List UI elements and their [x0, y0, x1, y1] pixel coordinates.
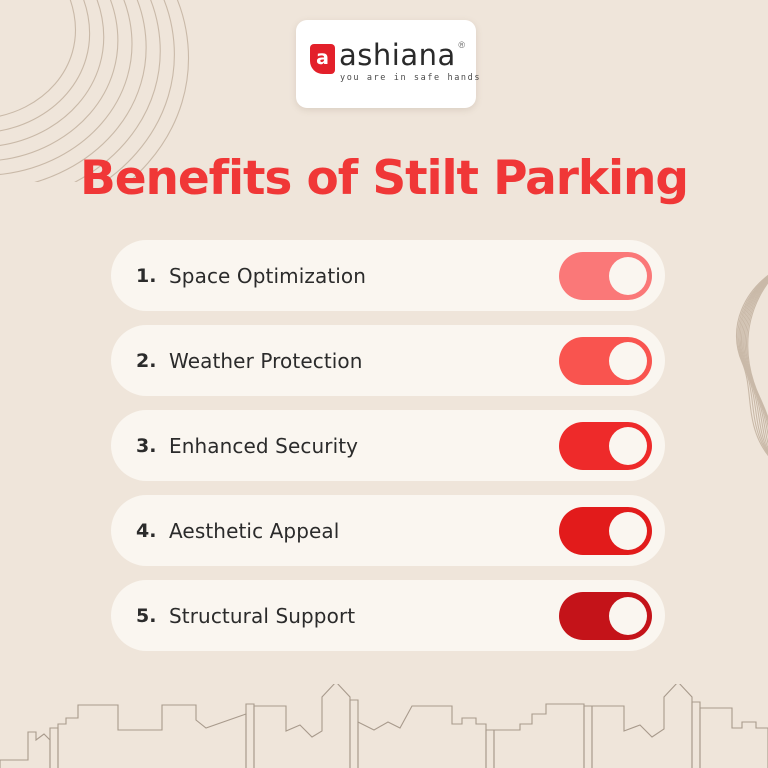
benefits-list: 1.Space Optimization2.Weather Protection… [111, 240, 665, 651]
benefit-row[interactable]: 5.Structural Support [111, 580, 665, 651]
benefit-number: 3. [136, 435, 169, 457]
benefit-toggle-switch[interactable] [559, 252, 652, 300]
benefit-number: 1. [136, 265, 169, 287]
logo-wordmark: ashiana [339, 40, 456, 72]
toggle-knob[interactable] [609, 512, 647, 550]
brand-logo: a ashiana ® you are in safe hands [310, 41, 462, 87]
toggle-knob[interactable] [609, 427, 647, 465]
benefit-toggle-switch[interactable] [559, 337, 652, 385]
benefit-label: Enhanced Security [169, 434, 358, 458]
logo-tagline: you are in safe hands [340, 73, 481, 83]
registered-trademark-icon: ® [458, 40, 465, 50]
benefit-label: Weather Protection [169, 349, 363, 373]
toggle-knob[interactable] [609, 342, 647, 380]
toggle-knob[interactable] [609, 597, 647, 635]
benefit-toggle-switch[interactable] [559, 422, 652, 470]
benefit-row[interactable]: 4.Aesthetic Appeal [111, 495, 665, 566]
benefit-number: 4. [136, 520, 169, 542]
benefit-toggle-switch[interactable] [559, 592, 652, 640]
benefit-row[interactable]: 1.Space Optimization [111, 240, 665, 311]
page-title: Benefits of Stilt Parking [0, 151, 768, 206]
benefit-label: Structural Support [169, 604, 355, 628]
logo-mark-letter: a [316, 49, 329, 68]
benefit-toggle-switch[interactable] [559, 507, 652, 555]
benefit-row[interactable]: 3.Enhanced Security [111, 410, 665, 481]
benefit-number: 2. [136, 350, 169, 372]
contour-decoration-right [670, 258, 768, 490]
benefit-row[interactable]: 2.Weather Protection [111, 325, 665, 396]
ashiana-mark-icon: a [310, 44, 335, 74]
poster-canvas: a ashiana ® you are in safe hands Benefi… [0, 0, 768, 768]
benefit-number: 5. [136, 605, 169, 627]
benefit-label: Aesthetic Appeal [169, 519, 339, 543]
brand-logo-card: a ashiana ® you are in safe hands [296, 20, 476, 108]
city-skyline-decoration [0, 684, 768, 768]
toggle-knob[interactable] [609, 257, 647, 295]
benefit-label: Space Optimization [169, 264, 366, 288]
